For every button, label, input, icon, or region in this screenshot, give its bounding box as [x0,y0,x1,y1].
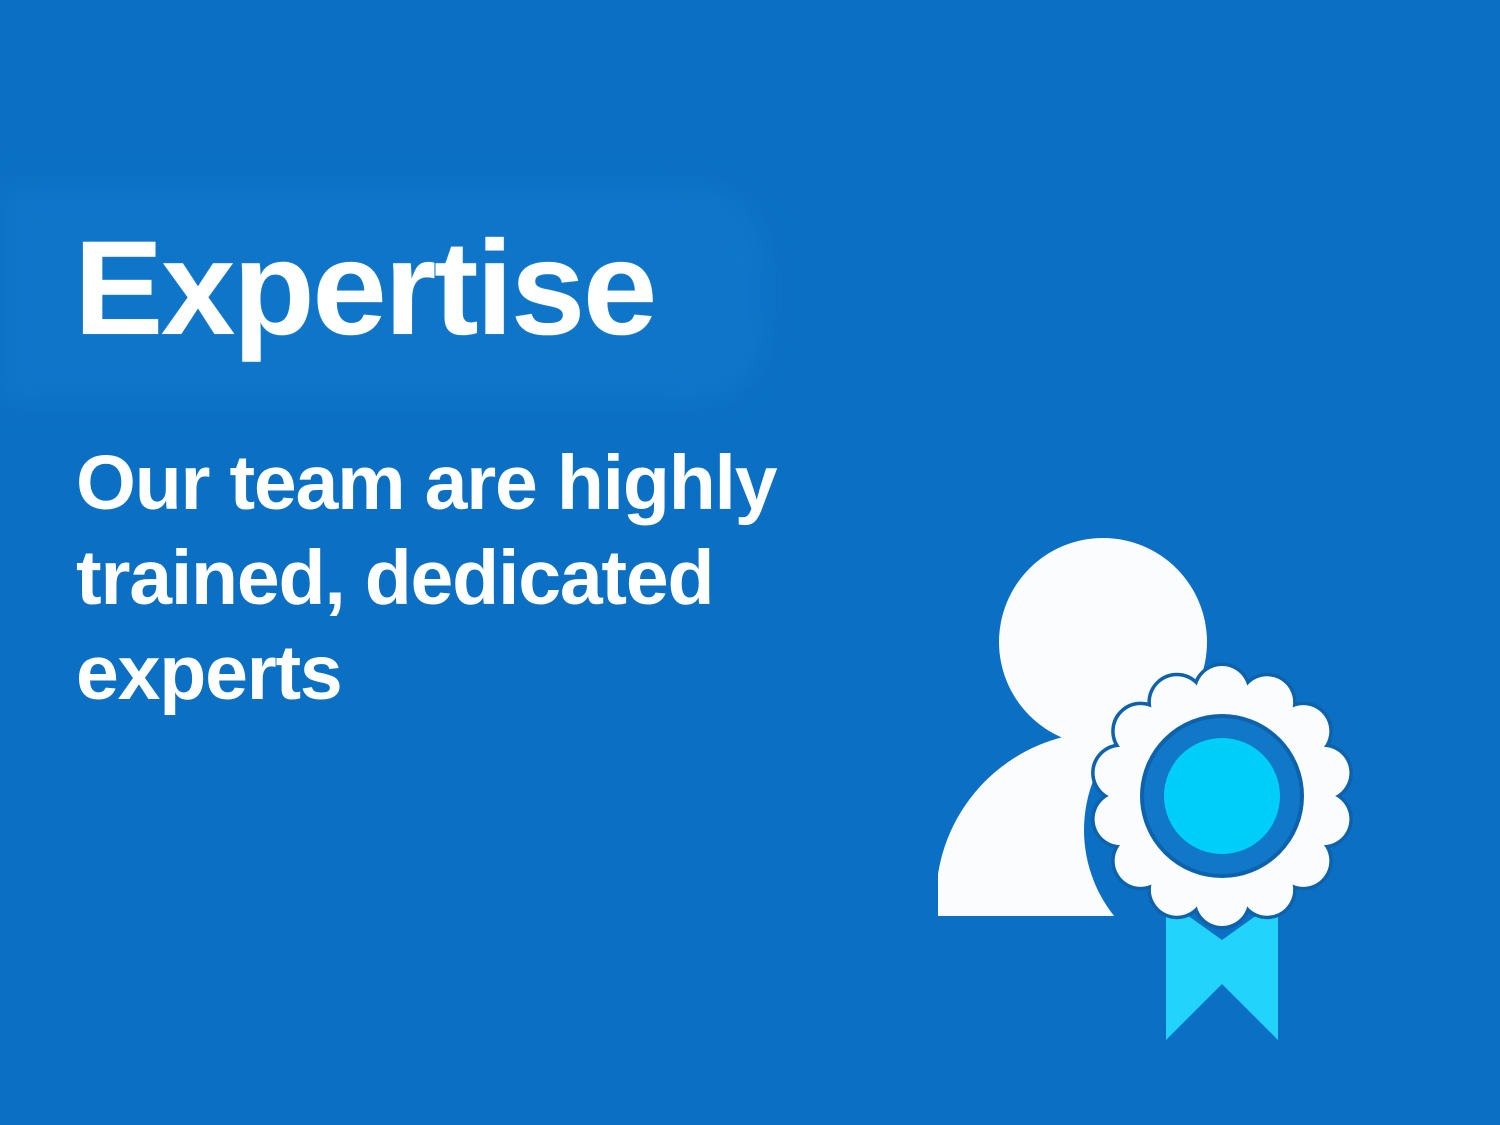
rosette-scallops [1095,666,1350,926]
body-text-line-3: experts [76,626,906,721]
body-text-line-1: Our team are highly [76,436,906,531]
certified-expert-person-badge-icon [900,500,1420,1040]
page-title: Expertise [74,222,655,356]
body-text: Our team are highly trained, dedicated e… [76,436,906,721]
body-text-line-2: trained, dedicated [76,531,906,626]
badge-center [1164,738,1280,854]
expertise-slide: Expertise Our team are highly trained, d… [0,0,1500,1125]
